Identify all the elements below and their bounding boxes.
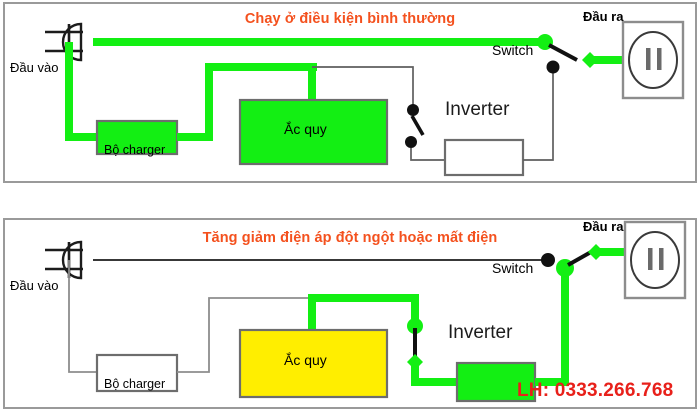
switch-contact-inverter-normal: [547, 61, 560, 74]
switch-label-outage: Switch: [492, 260, 533, 276]
outlet-icon-normal: [623, 22, 683, 98]
inverter-box-normal: [445, 140, 523, 175]
outlet-icon-outage: [625, 222, 685, 298]
plug-icon-normal: [45, 24, 83, 60]
output-label-normal: Đầu ra: [583, 9, 623, 24]
input-label-normal: Đầu vào: [10, 60, 58, 75]
panel-normal-operation: Chạy ở điều kiện bình thường: [3, 2, 697, 183]
battery-label-outage: Ắc quy: [284, 352, 327, 368]
battery-label-normal: Ắc quy: [284, 121, 327, 137]
diagram-canvas: Chạy ở điều kiện bình thường: [0, 0, 700, 412]
charger-label-normal: Bộ charger: [104, 143, 165, 157]
panel-outage-operation: Tăng giảm điện áp đột ngột hoặc mất điện: [3, 218, 697, 409]
inverter-label-outage: Inverter: [448, 322, 512, 344]
charger-label-outage: Bộ charger: [104, 377, 165, 391]
switch-label-normal: Switch: [492, 42, 533, 58]
switch-contact-mains-outage: [541, 253, 555, 267]
output-label-outage: Đầu ra: [583, 219, 623, 234]
input-label-outage: Đầu vào: [10, 278, 58, 293]
plug-icon-outage: [45, 242, 83, 278]
inverter-label-normal: Inverter: [445, 99, 509, 121]
contact-phone: LH: 0333.266.768: [517, 380, 673, 402]
